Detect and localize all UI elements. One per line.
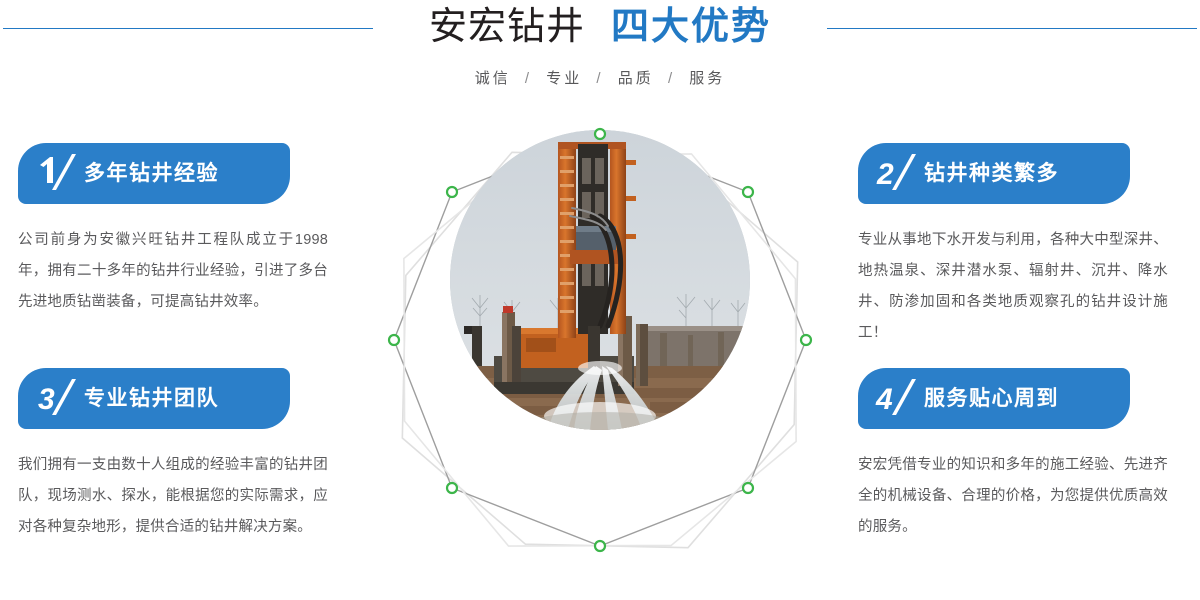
advantage-body-3: 我们拥有一支由数十人组成的经验丰富的钻井团队，现场测水、探水，能根据您的实际需求… xyxy=(18,450,328,543)
svg-text:2: 2 xyxy=(876,158,894,191)
advantage-body-4: 安宏凭借专业的知识和多年的施工经验、先进齐全的机械设备、合理的价格，为您提供优质… xyxy=(858,450,1168,543)
advantage-body-2: 专业从事地下水开发与利用，各种大中型深井、地热温泉、深井潜水泵、辐射井、沉井、降… xyxy=(858,225,1168,349)
svg-text:4: 4 xyxy=(875,383,893,416)
vertex-marker-left xyxy=(389,335,399,345)
vertex-marker-right xyxy=(801,335,811,345)
title-highlight: 四大优势 xyxy=(611,6,771,48)
advantage-badge-4: 4 服务贴心周到 xyxy=(858,368,1130,429)
section-header: 安宏钻井四大优势 诚信 / 专业 / 品质 / 服务 xyxy=(0,0,1200,110)
subtitle-item-3: 品质 xyxy=(618,70,654,87)
subtitle-separator: / xyxy=(596,70,603,87)
vertex-marker-top-left xyxy=(447,187,457,197)
advantage-card-3[interactable]: 3 专业钻井团队 我们拥有一支由数十人组成的经验丰富的钻井团队，现场测水、探水，… xyxy=(18,368,328,543)
advantages-section: 安宏钻井四大优势 诚信 / 专业 / 品质 / 服务 多年钻井经验 公司前身为安… xyxy=(0,0,1200,600)
advantage-card-4[interactable]: 4 服务贴心周到 安宏凭借专业的知识和多年的施工经验、先进齐全的机械设备、合理的… xyxy=(858,368,1168,543)
svg-text:3: 3 xyxy=(38,383,55,416)
number-one-icon xyxy=(34,152,80,196)
vertex-marker-bottom xyxy=(595,541,605,551)
number-three-icon: 3 xyxy=(34,377,80,421)
vertex-marker-bottom-left xyxy=(447,483,457,493)
advantage-title-1: 多年钻井经验 xyxy=(84,163,219,184)
subtitle-separator: / xyxy=(668,70,675,87)
subtitle-item-1: 诚信 xyxy=(475,70,511,87)
page-title: 安宏钻井四大优势 xyxy=(0,8,1200,46)
subtitle: 诚信 / 专业 / 品质 / 服务 xyxy=(0,67,1200,88)
advantage-badge-3: 3 专业钻井团队 xyxy=(18,368,290,429)
centre-decoration xyxy=(370,112,830,600)
vertex-marker-bottom-right xyxy=(743,483,753,493)
advantage-title-3: 专业钻井团队 xyxy=(84,388,219,409)
advantage-card-1[interactable]: 多年钻井经验 公司前身为安徽兴旺钻井工程队成立于1998年，拥有二十多年的钻井行… xyxy=(18,143,328,318)
advantage-badge-1: 多年钻井经验 xyxy=(18,143,290,204)
subtitle-separator: / xyxy=(525,70,532,87)
advantage-card-2[interactable]: 2 钻井种类繁多 专业从事地下水开发与利用，各种大中型深井、地热温泉、深井潜水泵… xyxy=(858,143,1168,349)
number-two-icon: 2 xyxy=(874,152,920,196)
advantage-title-2: 钻井种类繁多 xyxy=(924,163,1059,184)
advantage-title-4: 服务贴心周到 xyxy=(924,388,1059,409)
vertex-marker-top xyxy=(595,129,605,139)
advantage-badge-2: 2 钻井种类繁多 xyxy=(858,143,1130,204)
advantage-body-1: 公司前身为安徽兴旺钻井工程队成立于1998年，拥有二十多年的钻井行业经验，引进了… xyxy=(18,225,328,318)
subtitle-item-2: 专业 xyxy=(546,70,582,87)
number-four-icon: 4 xyxy=(874,377,920,421)
vertex-markers xyxy=(370,112,830,600)
vertex-marker-top-right xyxy=(743,187,753,197)
subtitle-item-4: 服务 xyxy=(689,70,725,87)
title-company: 安宏钻井 xyxy=(429,6,585,48)
